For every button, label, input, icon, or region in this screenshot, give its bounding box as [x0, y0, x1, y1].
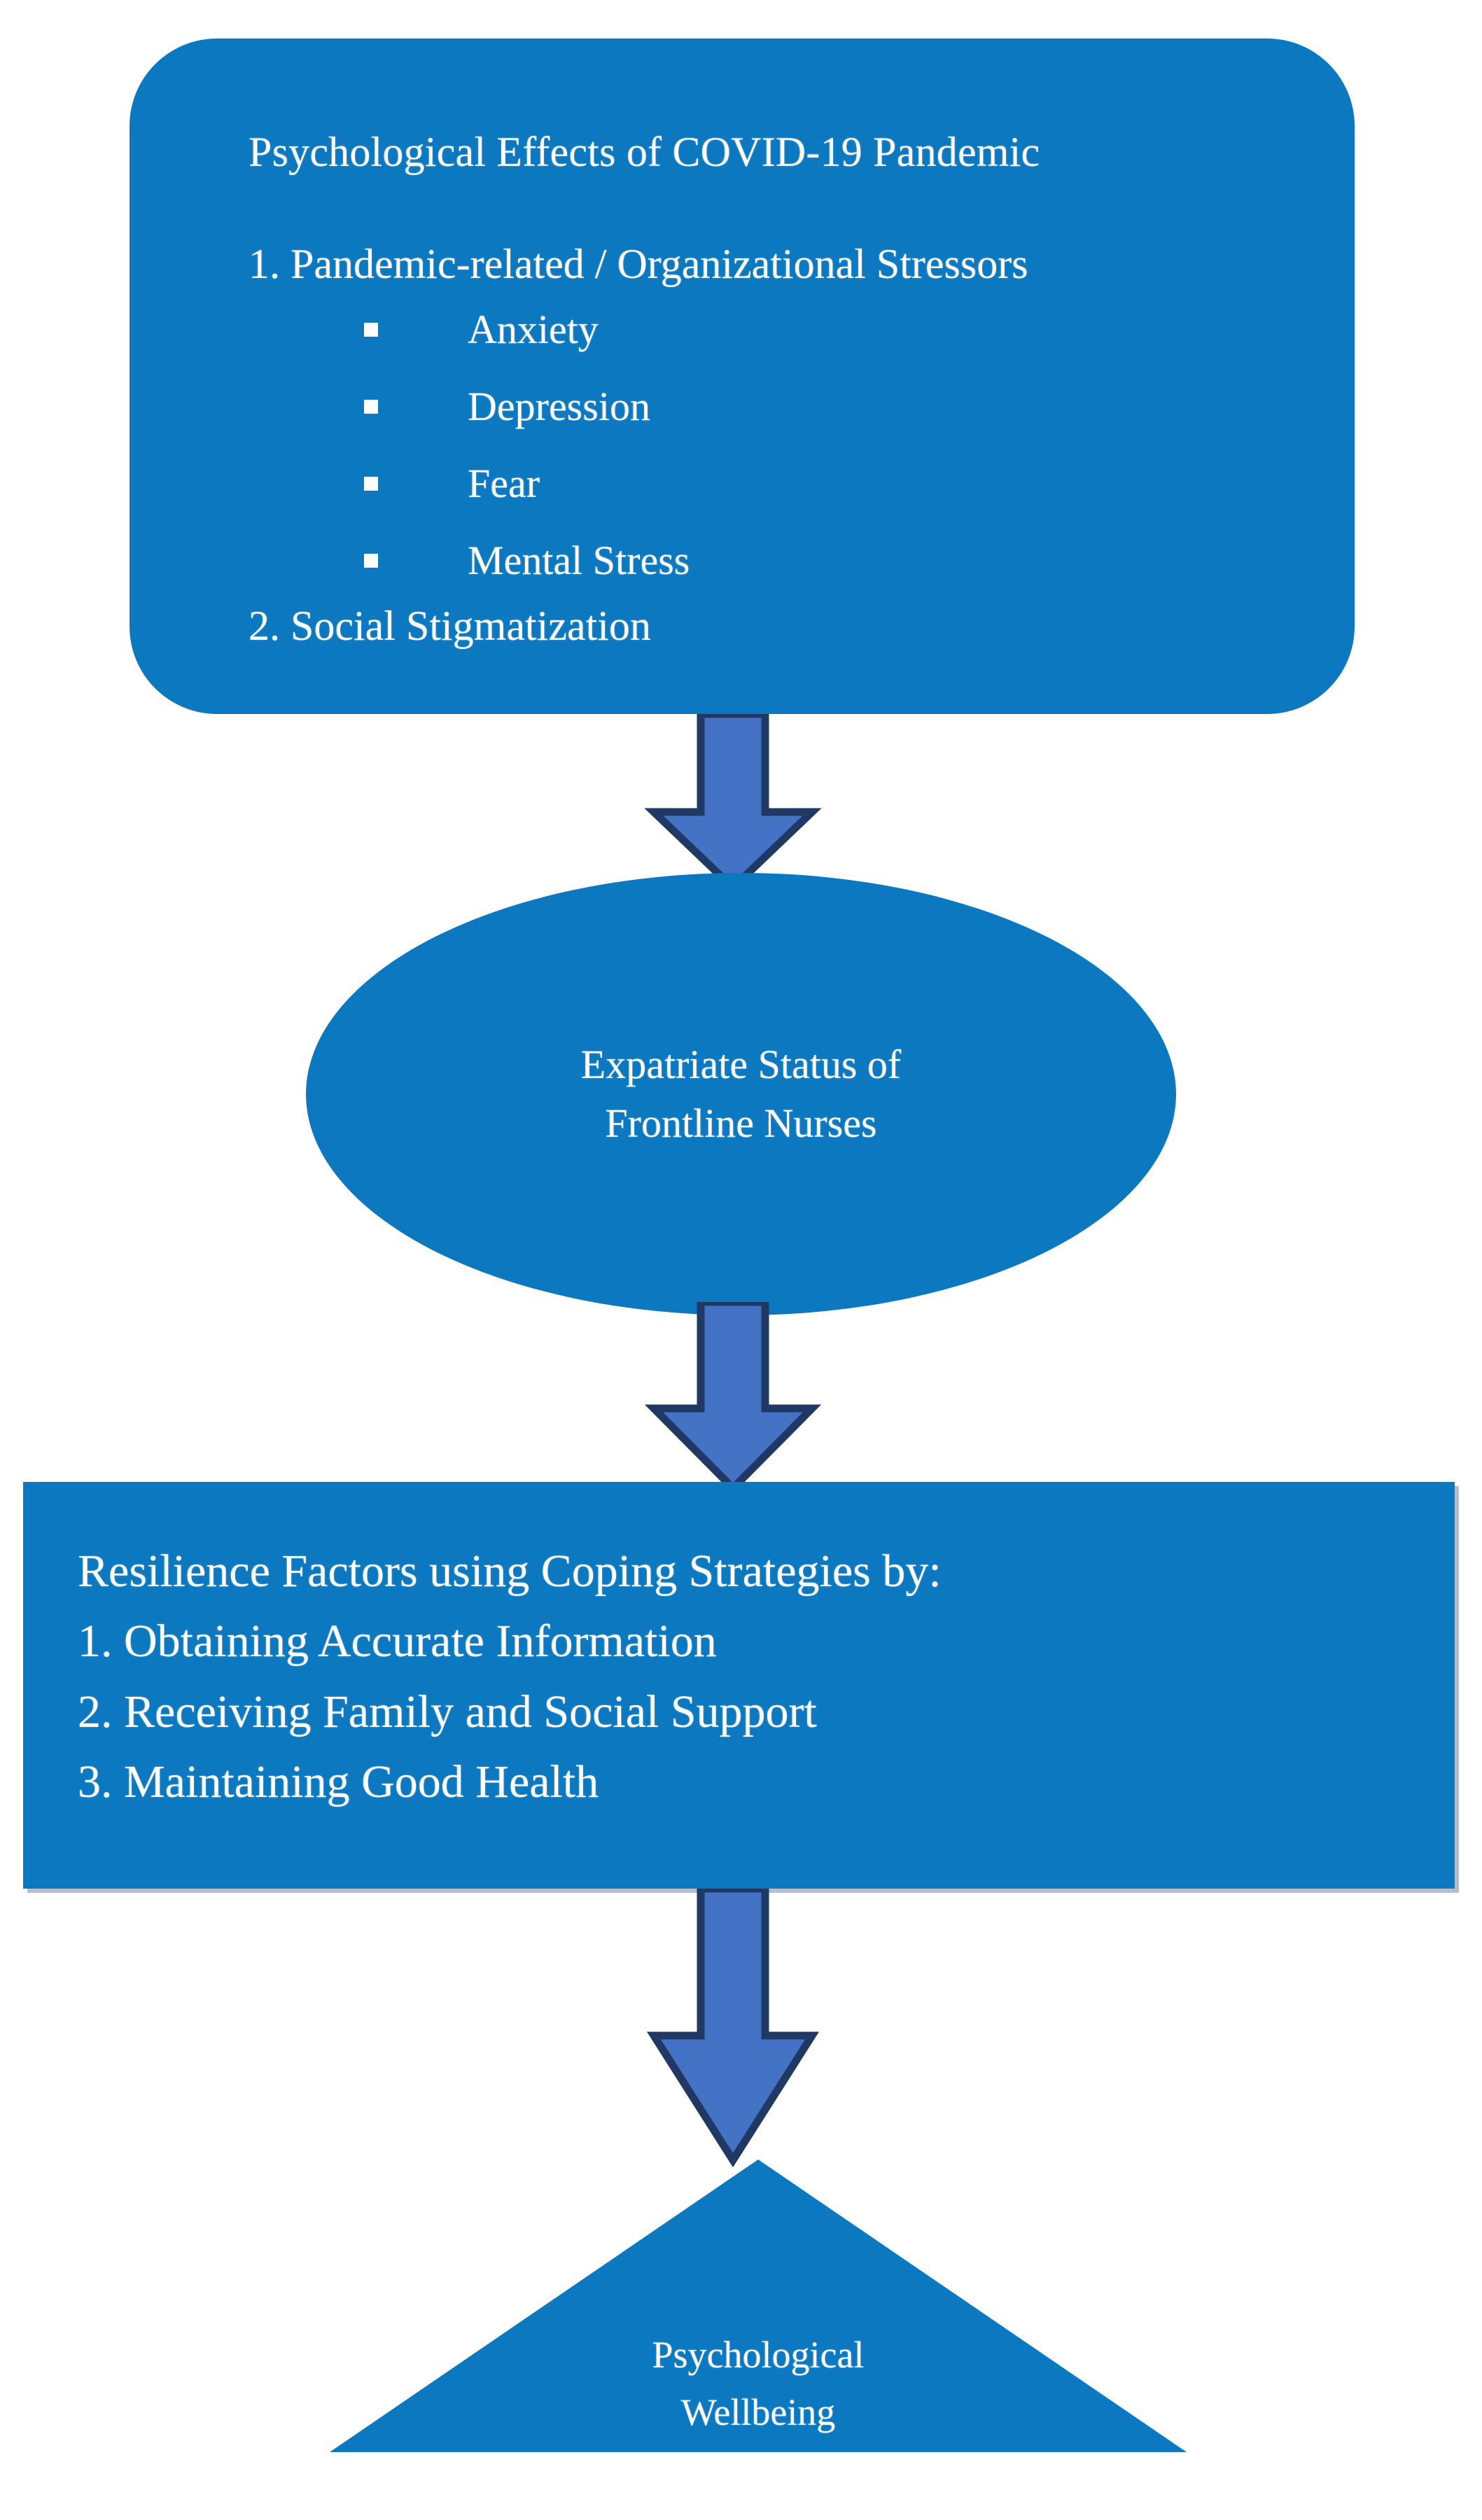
- node-expatriate-status: Expatriate Status of Frontline Nurses: [306, 873, 1176, 1315]
- arrow-2-connector: [0, 1302, 1482, 1491]
- node-psychological-effects: Psychological Effects of COVID-19 Pandem…: [130, 38, 1355, 714]
- list-item: Fear: [172, 445, 1313, 522]
- bullet-label: Depression: [468, 386, 650, 427]
- node-title-psychological-effects: Psychological Effects of COVID-19 Pandem…: [172, 126, 1313, 178]
- list-item: Mental Stress: [172, 522, 1313, 599]
- bullet-label: Mental Stress: [468, 540, 690, 581]
- arrow-1-connector: [0, 714, 1482, 889]
- node-resilience-factors: Resilience Factors using Coping Strategi…: [23, 1482, 1455, 1889]
- diagram-canvas: Psychological Effects of COVID-19 Pandem…: [0, 0, 1482, 2520]
- resilience-item-3: 3. Maintaining Good Health: [78, 1747, 1427, 1817]
- square-bullet-icon: [364, 323, 378, 337]
- stressors-bullet-list: Anxiety Depression Fear Mental Stress: [172, 291, 1313, 599]
- square-bullet-icon: [364, 477, 378, 491]
- social-stigmatization-item: 2. Social Stigmatization: [172, 599, 1313, 653]
- ellipse-line-1: Expatriate Status of: [581, 1035, 901, 1094]
- spacer: [172, 178, 1313, 237]
- node-psychological-wellbeing: Psychological Wellbeing: [330, 2159, 1187, 2452]
- list-item: Anxiety: [172, 291, 1313, 368]
- node-label-expatriate-status: Expatriate Status of Frontline Nurses: [581, 1035, 901, 1153]
- bullet-label: Fear: [468, 463, 540, 504]
- list-item: Depression: [172, 368, 1313, 445]
- resilience-item-1: 1. Obtaining Accurate Information: [78, 1606, 1427, 1676]
- square-bullet-icon: [364, 554, 378, 568]
- square-bullet-icon: [364, 400, 378, 414]
- resilience-item-2: 2. Receiving Family and Social Support: [78, 1677, 1427, 1747]
- bullet-label: Anxiety: [468, 309, 599, 350]
- resilience-heading: Resilience Factors using Coping Strategi…: [78, 1536, 1427, 1606]
- stressors-heading: 1. Pandemic-related / Organizational Str…: [172, 237, 1313, 291]
- ellipse-line-2: Frontline Nurses: [581, 1094, 901, 1153]
- arrow-3-connector: [0, 1889, 1482, 2169]
